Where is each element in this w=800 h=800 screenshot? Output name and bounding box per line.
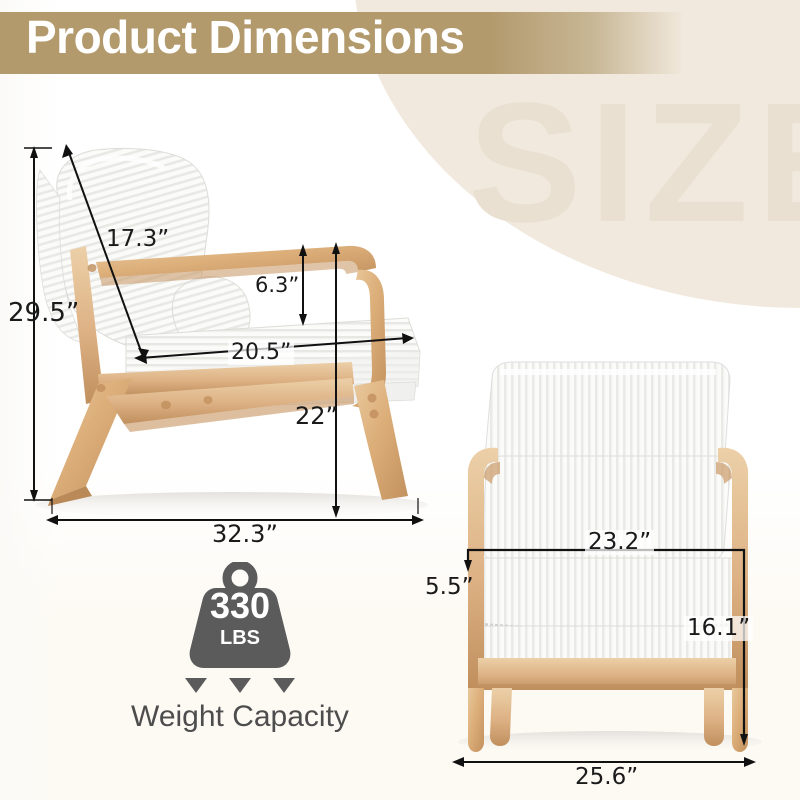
- dim-label-overall-width: 25.6”: [575, 766, 638, 789]
- weight-capacity-block: 330 LBS Weight Capacity: [120, 562, 360, 732]
- dim-label-overall-height: 29.5”: [8, 300, 79, 326]
- arrow-down-icon: [185, 678, 207, 693]
- weight-icon: 330 LBS: [182, 562, 298, 674]
- weight-capacity-caption: Weight Capacity: [120, 702, 360, 732]
- background-left-wash: [0, 0, 60, 800]
- arrow-down-icon: [229, 678, 251, 693]
- dim-label-backrest-diagonal: 17.3”: [106, 228, 169, 251]
- dim-label-seat-depth: 20.5”: [228, 341, 294, 365]
- dim-label-seat-width: 23.2”: [585, 530, 654, 555]
- arrow-down-icon: [273, 678, 295, 693]
- weight-arrow-group: [120, 678, 360, 693]
- weight-unit: LBS: [182, 628, 298, 648]
- infographic-canvas: SIZE Product Dimensions: [0, 0, 800, 800]
- dim-label-cushion-thickness: 5.5”: [425, 576, 474, 599]
- page-title: Product Dimensions: [26, 14, 464, 60]
- dim-label-seat-height: 16.1”: [684, 616, 753, 641]
- dim-label-overall-depth: 32.3”: [212, 522, 278, 546]
- background-watermark-size: SIZE: [468, 78, 800, 248]
- dim-label-arm-height: 22”: [295, 404, 338, 428]
- weight-number: 330: [182, 588, 298, 624]
- dim-label-seat-cushion-thickness: 6.3”: [255, 275, 299, 296]
